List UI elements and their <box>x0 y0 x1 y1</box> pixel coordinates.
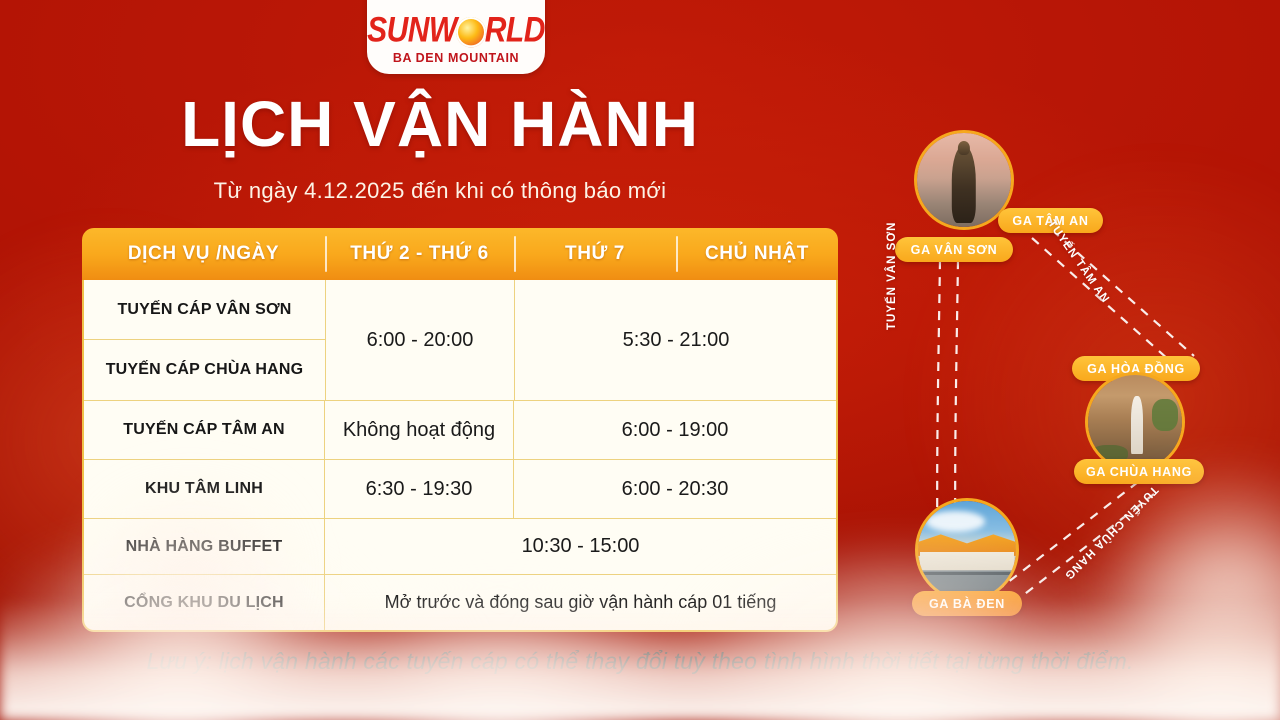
logo-subtitle: BA DEN MOUNTAIN <box>393 51 519 66</box>
route-label-van-son: TUYẾN VÂN SƠN <box>886 222 898 330</box>
service-label: TUYẾN CÁP CHÙA HANG <box>84 340 325 400</box>
table-row: CỔNG KHU DU LỊCH Mở trước và đóng sau gi… <box>84 574 836 630</box>
cable-route-diagram: GA VÂN SƠN GA TÂM AN GA HÒA ĐỒNG GA CHÙA… <box>880 130 1280 640</box>
service-label: TUYẾN CÁP VÂN SƠN <box>84 280 325 340</box>
value-allweek: Mở trước và đóng sau giờ vận hành cáp 01… <box>325 575 836 630</box>
table-header-row: DỊCH VỤ /NGÀY THỨ 2 - THỨ 6 THỨ 7 CHỦ NH… <box>82 228 838 280</box>
service-name-stack: TUYẾN CÁP VÂN SƠN TUYẾN CÁP CHÙA HANG <box>84 280 326 400</box>
column-header-weekday: THỨ 2 - THỨ 6 <box>325 228 514 280</box>
page-title: LỊCH VẬN HÀNH <box>0 92 880 156</box>
footer-note: Lưu ý: lịch vận hành các tuyến cáp có th… <box>0 648 1280 675</box>
column-header-saturday: THỨ 7 <box>514 228 676 280</box>
value-weekday: 6:00 - 20:00 <box>326 280 515 400</box>
value-weekend: 5:30 - 21:00 <box>515 280 837 400</box>
value-weekday: 6:30 - 19:30 <box>325 460 514 518</box>
station-hoa-dong[interactable] <box>1085 372 1185 472</box>
service-label: KHU TÂM LINH <box>84 460 325 518</box>
service-label: TUYẾN CÁP TÂM AN <box>84 401 325 459</box>
logo-word-pre: SUNW <box>367 13 457 48</box>
station-label-ba-den[interactable]: GA BÀ ĐEN <box>912 591 1022 616</box>
table-row: TUYẾN CÁP TÂM AN Không hoạt động 6:00 - … <box>84 400 836 459</box>
schedule-table: DỊCH VỤ /NGÀY THỨ 2 - THỨ 6 THỨ 7 CHỦ NH… <box>82 228 838 632</box>
logo-word-post: RLD <box>485 13 545 48</box>
column-header-service: DỊCH VỤ /NGÀY <box>82 228 325 280</box>
column-header-sunday: CHỦ NHẬT <box>676 228 838 280</box>
page-subtitle: Từ ngày 4.12.2025 đến khi có thông báo m… <box>0 178 880 204</box>
table-row: NHÀ HÀNG BUFFET 10:30 - 15:00 <box>84 518 836 574</box>
ba-den-photo <box>915 498 1019 602</box>
logo-wordmark: SUNW RLD <box>367 13 545 48</box>
service-label: NHÀ HÀNG BUFFET <box>84 519 325 574</box>
table-body: TUYẾN CÁP VÂN SƠN TUYẾN CÁP CHÙA HANG 6:… <box>82 280 838 632</box>
station-label-chua-hang[interactable]: GA CHÙA HANG <box>1074 459 1204 484</box>
sunworld-logo: SUNW RLD BA DEN MOUNTAIN <box>367 0 545 74</box>
hoa-dong-photo <box>1085 372 1185 472</box>
table-row-group: TUYẾN CÁP VÂN SƠN TUYẾN CÁP CHÙA HANG 6:… <box>84 280 836 400</box>
value-weekend: 6:00 - 19:00 <box>514 401 836 459</box>
poster-canvas: SUNW RLD BA DEN MOUNTAIN LỊCH VẬN HÀNH T… <box>0 0 1280 720</box>
table-row: KHU TÂM LINH 6:30 - 19:30 6:00 - 20:30 <box>84 459 836 518</box>
value-weekend: 6:00 - 20:30 <box>514 460 836 518</box>
service-label: CỔNG KHU DU LỊCH <box>84 575 325 630</box>
station-ba-den[interactable] <box>915 498 1019 602</box>
value-allweek: 10:30 - 15:00 <box>325 519 836 574</box>
station-label-van-son[interactable]: GA VÂN SƠN <box>895 237 1013 262</box>
value-weekday: Không hoạt động <box>325 401 514 459</box>
sun-icon <box>456 17 486 47</box>
